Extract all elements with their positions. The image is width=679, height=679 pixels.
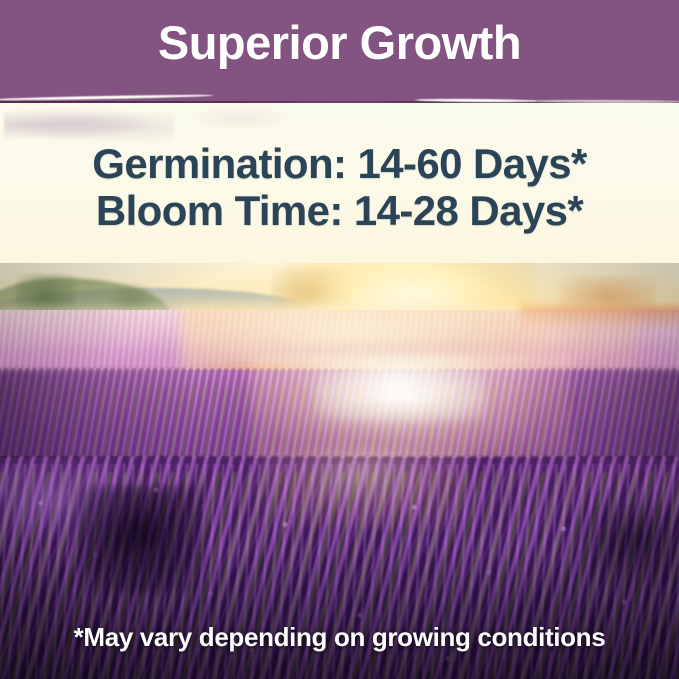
product-infographic-card: Superior Growth Germination: 14-60 Days*… [0, 0, 679, 679]
header-banner: Superior Growth [0, 0, 679, 103]
lavender-field-photo [0, 258, 679, 679]
footer-disclaimer: *May vary depending on growing condition… [0, 622, 679, 653]
edge-vignette [0, 258, 679, 679]
watermark-texture-secondary [180, 105, 300, 131]
info-panel: Germination: 14-60 Days* Bloom Time: 14-… [0, 103, 679, 263]
germination-line: Germination: 14-60 Days* [0, 143, 679, 185]
banner-title: Superior Growth [0, 17, 679, 69]
bloom-time-line: Bloom Time: 14-28 Days* [0, 190, 679, 232]
watermark-texture [4, 107, 174, 143]
